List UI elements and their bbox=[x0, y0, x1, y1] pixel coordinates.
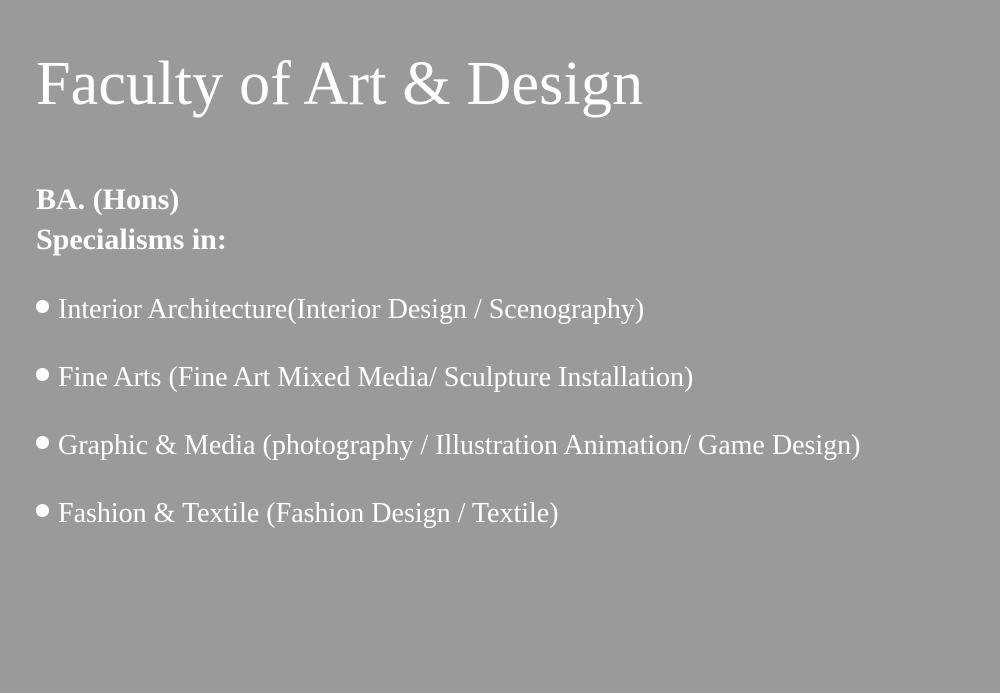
list-item: Graphic & Media (photography / Illustrat… bbox=[36, 428, 861, 496]
specialism-label: Fine Arts (Fine Art Mixed Media/ Sculptu… bbox=[58, 360, 693, 396]
subtitle-degree: BA. (Hons) bbox=[36, 180, 227, 220]
list-item: Interior Architecture(Interior Design / … bbox=[36, 292, 861, 360]
list-item: Fashion & Textile (Fashion Design / Text… bbox=[36, 496, 861, 564]
specialisms-list: Interior Architecture(Interior Design / … bbox=[36, 292, 861, 564]
list-item: Fine Arts (Fine Art Mixed Media/ Sculptu… bbox=[36, 360, 861, 428]
subtitle-block: BA. (Hons) Specialisms in: bbox=[36, 180, 227, 260]
filled-circle-bullet-icon bbox=[36, 368, 49, 381]
filled-circle-bullet-icon bbox=[36, 436, 49, 449]
specialism-label: Fashion & Textile (Fashion Design / Text… bbox=[58, 496, 559, 532]
subtitle-specialisms-heading: Specialisms in: bbox=[36, 220, 227, 260]
specialism-label: Graphic & Media (photography / Illustrat… bbox=[58, 428, 861, 464]
filled-circle-bullet-icon bbox=[36, 300, 49, 313]
specialism-label: Interior Architecture(Interior Design / … bbox=[58, 292, 644, 328]
filled-circle-bullet-icon bbox=[36, 504, 49, 517]
slide-canvas: Faculty of Art & Design BA. (Hons) Speci… bbox=[0, 0, 1000, 693]
page-title: Faculty of Art & Design bbox=[36, 52, 643, 117]
